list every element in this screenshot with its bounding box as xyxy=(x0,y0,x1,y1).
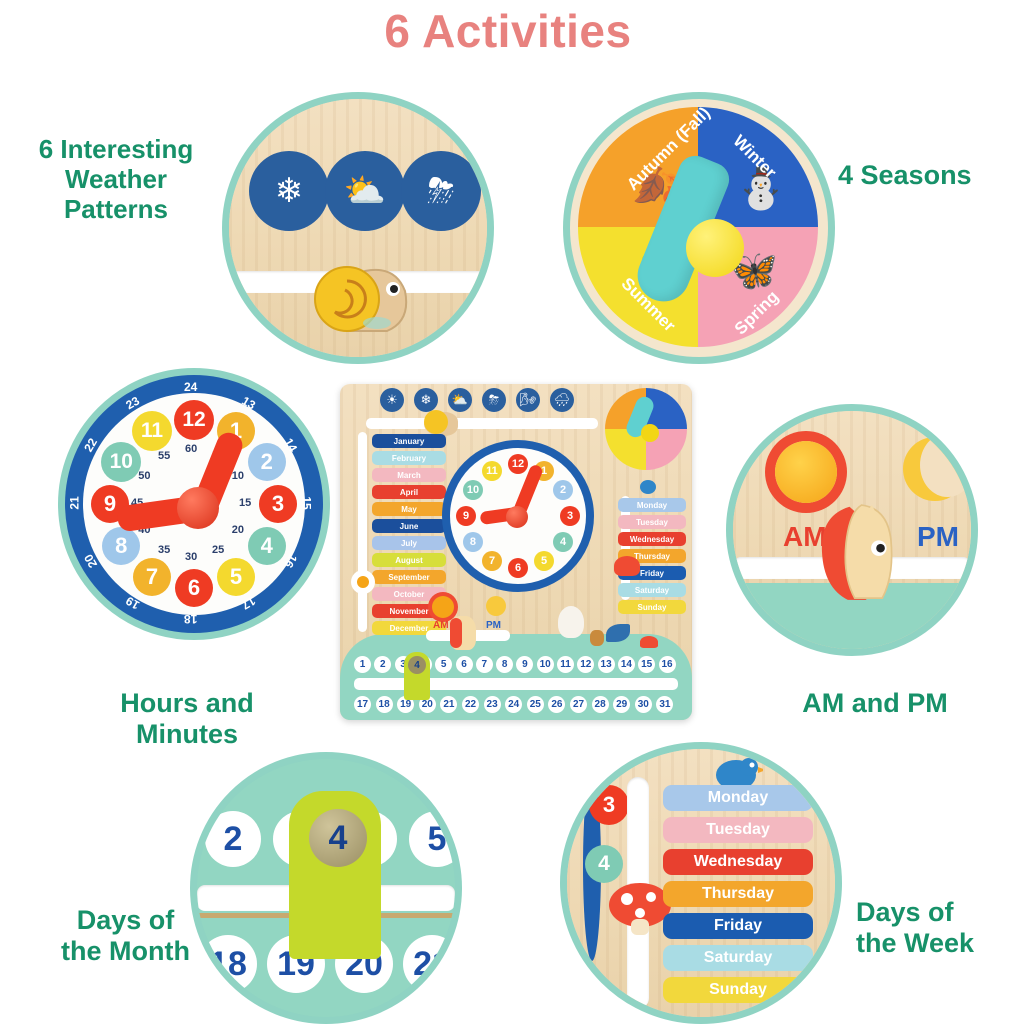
rabbit-icon xyxy=(558,606,584,638)
snow-glyph: ❄ xyxy=(275,171,304,211)
board-clock-hour-2: 2 xyxy=(553,480,573,500)
board-month-september[interactable]: September xyxy=(372,570,446,584)
board-day-10[interactable]: 10 xyxy=(537,656,554,673)
clock-minute-30: 30 xyxy=(185,551,197,563)
board-month-january[interactable]: January xyxy=(372,434,446,448)
clock-minute-60: 60 xyxy=(185,443,197,455)
board-rain-cloud-icon: 🌧 xyxy=(550,388,574,412)
storm-glyph: ⛈ xyxy=(427,172,454,211)
zoom-day-5[interactable]: 5 xyxy=(409,811,462,867)
clock-center-knob[interactable] xyxy=(177,487,219,529)
sun-behind-cloud-icon: ⛅ xyxy=(325,151,405,231)
zoom-day-2[interactable]: 2 xyxy=(205,811,261,867)
clock-minute-55: 55 xyxy=(158,450,170,462)
acorn-icon xyxy=(590,630,604,646)
moon-icon xyxy=(903,437,967,501)
board-clock-hour-8: 8 xyxy=(463,532,483,552)
clock-minute-25: 25 xyxy=(212,544,224,556)
season-pointer-knob[interactable] xyxy=(686,219,744,277)
clock-hour-7: 7 xyxy=(133,558,171,596)
board-day-track[interactable] xyxy=(354,678,678,690)
zoom-weekday-sunday[interactable]: Sunday xyxy=(663,977,813,1003)
board-weekday-saturday[interactable]: Saturday xyxy=(618,583,686,597)
board-month-april[interactable]: April xyxy=(372,485,446,499)
board-month-may[interactable]: May xyxy=(372,502,446,516)
board-day-16[interactable]: 16 xyxy=(659,656,676,673)
clock-hour-6: 6 xyxy=(175,569,213,607)
board-snow-cloud-icon: ❄ xyxy=(414,388,438,412)
caption-days-of-week: Days of the Week xyxy=(856,897,1016,959)
board-clock-hour-10: 10 xyxy=(463,480,483,500)
clock-hour-3: 3 xyxy=(259,485,297,523)
clock-24h-15: 15 xyxy=(300,496,314,509)
mushroom-icon xyxy=(640,636,658,648)
clock-hour-2: 2 xyxy=(248,443,286,481)
board-day-25[interactable]: 25 xyxy=(527,696,544,713)
clock-24h-21: 21 xyxy=(68,496,82,509)
board-snail-slider[interactable] xyxy=(424,412,458,436)
clock-24h-24: 24 xyxy=(184,380,197,394)
board-sun-behind-cloud-icon: ⛅ xyxy=(448,388,472,412)
infographic-stage: 6 Activities 6 Interesting Weather Patte… xyxy=(0,0,1016,1024)
zoom-weekday-tuesday[interactable]: Tuesday xyxy=(663,817,813,843)
clock-hour-4: 4 xyxy=(585,845,623,883)
board-weekday-monday[interactable]: Monday xyxy=(618,498,686,512)
board-day-slider[interactable]: 4 xyxy=(404,652,430,700)
board-month-june[interactable]: June xyxy=(372,519,446,533)
callout-hours-minutes: 121234567891011 241314151617181920212223… xyxy=(58,368,330,640)
board-clock-hour-9: 9 xyxy=(456,506,476,526)
board-day-23[interactable]: 23 xyxy=(484,696,501,713)
board-day-27[interactable]: 27 xyxy=(570,696,587,713)
board-day-30[interactable]: 30 xyxy=(635,696,652,713)
board-day-14[interactable]: 14 xyxy=(618,656,635,673)
board-weekday-sunday[interactable]: Sunday xyxy=(618,600,686,614)
season-label-spring: Spring xyxy=(731,287,783,339)
clock-hour-3: 3 xyxy=(589,785,629,825)
zoom-weekday-thursday[interactable]: Thursday xyxy=(663,881,813,907)
board-sun-icon xyxy=(432,596,454,618)
caption-seasons: 4 Seasons xyxy=(838,160,1016,191)
board-clock-hour-4: 4 xyxy=(553,532,573,552)
callout-am-pm: AM PM xyxy=(726,404,978,656)
board-sun-icon: ☀ xyxy=(380,388,404,412)
board-seasons-wheel[interactable] xyxy=(605,388,687,470)
board-weather-track[interactable] xyxy=(366,418,598,429)
board-mushroom-slider[interactable] xyxy=(614,556,640,576)
snow-cloud-icon: ❄ xyxy=(249,151,329,231)
caption-weather-patterns: 6 Interesting Weather Patterns xyxy=(0,135,236,225)
board-squirrel-slider[interactable] xyxy=(450,616,476,650)
board-day-1[interactable]: 1 xyxy=(354,656,371,673)
clock-minute-35: 35 xyxy=(158,544,170,556)
callout-days-of-week: 3 4 MondayTuesdayWednesdayThursdayFriday… xyxy=(560,742,842,1024)
board-day-13[interactable]: 13 xyxy=(598,656,615,673)
board-clock-hour-6: 6 xyxy=(508,558,528,578)
zoom-weekday-monday[interactable]: Monday xyxy=(663,785,813,811)
caption-hours-minutes: Hours and Minutes xyxy=(62,688,312,750)
board-thunderstorm-icon: ⛈ xyxy=(482,388,506,412)
board-month-august[interactable]: August xyxy=(372,553,446,567)
board-windy-icon: 🌬 xyxy=(516,388,540,412)
board-day-6[interactable]: 6 xyxy=(456,656,473,673)
pm-label: PM xyxy=(917,521,959,553)
clock-hour-4: 4 xyxy=(248,527,286,565)
clock-24h-18: 18 xyxy=(184,612,197,626)
clock-hour-12: 12 xyxy=(174,400,214,440)
zoom-day-21[interactable]: 21 xyxy=(403,935,461,993)
board-moon-icon xyxy=(486,596,506,616)
seasons-wheel[interactable]: ⛄ 🦋 🐸 🍂 Autumn (Fall) Winter Summer Spri… xyxy=(578,107,818,347)
board-day-knob[interactable]: 4 xyxy=(408,656,426,674)
day-slider-knob[interactable]: 4 xyxy=(309,809,367,867)
board-day-8[interactable]: 8 xyxy=(496,656,513,673)
board-month-march[interactable]: March xyxy=(372,468,446,482)
callout-days-of-month: 2345 18192021 4 xyxy=(190,752,462,1024)
board-clock-hour-5: 5 xyxy=(534,551,554,571)
board-weekday-wednesday[interactable]: Wednesday xyxy=(618,532,686,546)
callout-seasons: ⛄ 🦋 🐸 🍂 Autumn (Fall) Winter Summer Spri… xyxy=(563,92,835,364)
board-flower-slider[interactable] xyxy=(351,570,375,594)
zoom-day-18[interactable]: 18 xyxy=(199,935,257,993)
board-day-18[interactable]: 18 xyxy=(376,696,393,713)
clock-minute-20: 20 xyxy=(232,524,244,536)
board-day-11[interactable]: 11 xyxy=(557,656,574,673)
clock-hour-8: 8 xyxy=(102,527,140,565)
clock-hour-11: 11 xyxy=(132,411,172,451)
page-title: 6 Activities xyxy=(0,4,1016,58)
board-month-july[interactable]: July xyxy=(372,536,446,550)
snail-slider[interactable] xyxy=(307,251,415,337)
clock-minute-50: 50 xyxy=(138,470,150,482)
zoom-weekday-wednesday[interactable]: Wednesday xyxy=(663,849,813,875)
board-clock-hour-12: 12 xyxy=(508,454,528,474)
zoom-weekday-saturday[interactable]: Saturday xyxy=(663,945,813,971)
board-clock-knob[interactable] xyxy=(506,506,528,528)
board-month-track[interactable] xyxy=(358,432,367,632)
board-clock-hour-7: 7 xyxy=(482,551,502,571)
board-day-17[interactable]: 17 xyxy=(354,696,371,713)
board-weekday-tuesday[interactable]: Tuesday xyxy=(618,515,686,529)
sun-cloud-glyph: ⛅ xyxy=(344,171,386,211)
zoom-weekday-friday[interactable]: Friday xyxy=(663,913,813,939)
clock-minute-15: 15 xyxy=(239,497,251,509)
thunderstorm-icon: ⛈ xyxy=(401,151,481,231)
calendar-clock-board: ☀❄⛅⛈🌬🌧 JanuaryFebruaryMarchAprilMayJuneJ… xyxy=(340,384,692,720)
board-day-7[interactable]: 7 xyxy=(476,656,493,673)
board-day-22[interactable]: 22 xyxy=(462,696,479,713)
board-clock-hour-3: 3 xyxy=(560,506,580,526)
board-month-february[interactable]: February xyxy=(372,451,446,465)
clock-hour-10: 10 xyxy=(101,442,141,482)
clock-hour-5: 5 xyxy=(217,558,255,596)
squirrel-slider[interactable] xyxy=(811,493,907,605)
caption-am-pm: AM and PM xyxy=(760,688,990,719)
callout-weather-patterns: ❄ ⛅ ⛈ xyxy=(222,92,494,364)
board-bird-icon xyxy=(640,480,656,494)
clock-minute-10: 10 xyxy=(232,470,244,482)
board-clock-hour-11: 11 xyxy=(482,461,502,481)
board-day-28[interactable]: 28 xyxy=(592,696,609,713)
